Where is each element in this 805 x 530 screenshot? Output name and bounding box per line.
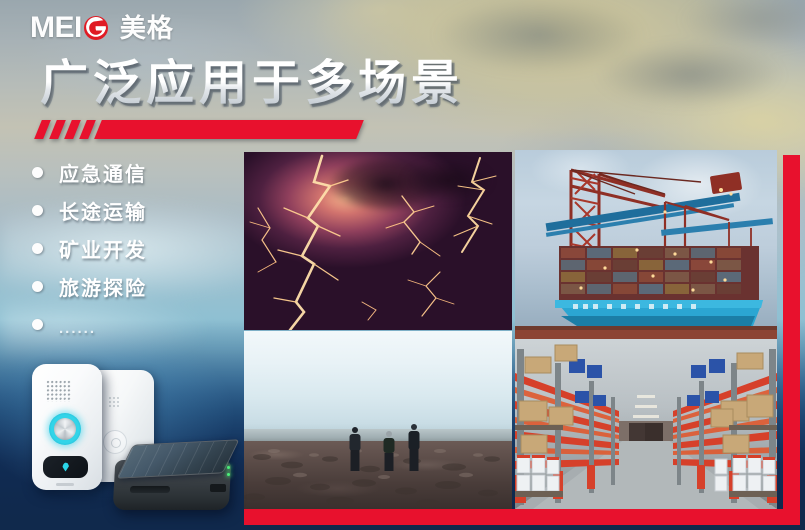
bullet-dot-icon	[32, 167, 43, 178]
logo-text-mei: MEI	[30, 13, 82, 43]
red-accent-bar	[38, 120, 353, 139]
device-speaker-grid-icon	[46, 380, 72, 402]
list-item: 旅游探险	[32, 274, 147, 299]
photo-warehouse-logistics	[515, 339, 777, 509]
port-cranes-icon	[515, 150, 777, 339]
scenario-label-mining: 矿业开发	[59, 234, 147, 263]
solar-device-slot	[130, 486, 170, 493]
list-item: 矿业开发	[32, 236, 147, 261]
bullet-dot-icon	[32, 319, 43, 330]
location-pin-icon	[62, 463, 69, 472]
bullet-dot-icon	[32, 281, 43, 292]
logo-wordmark-cn: 美格	[120, 15, 174, 41]
page-title: 广泛应用于多场景	[40, 58, 464, 111]
scenario-label-adventure: 旅游探险	[59, 272, 147, 301]
bullet-dot-icon	[32, 205, 43, 216]
device-white-tracker-icon	[32, 364, 102, 490]
solar-panel-icon	[116, 439, 239, 478]
accent-bar-segment-4	[79, 120, 96, 139]
scenario-label-transport: 长途运输	[59, 196, 147, 225]
scenario-label-emergency: 应急通信	[59, 158, 147, 187]
solar-status-led-2-icon	[227, 473, 230, 476]
lightning-bolts-icon	[244, 152, 512, 330]
scenario-label-more: ......	[59, 320, 96, 337]
photo-container-port	[515, 150, 777, 339]
device-usb-port-icon	[56, 483, 74, 486]
device-sos-button-icon	[49, 413, 81, 445]
hiker-figure-green	[380, 431, 398, 471]
list-item: ......	[32, 312, 147, 337]
accent-bar-segment-3	[64, 120, 81, 139]
photo-lightning-storm	[244, 152, 512, 330]
poster-canvas: MEI 美格 广泛应用于多场景 广泛应用于多场景 应急通信 长途	[0, 0, 805, 530]
photo-hikers-adventure	[244, 331, 512, 509]
hiker-figure-blue	[346, 427, 364, 471]
brand-logo: MEI 美格	[30, 13, 174, 43]
solar-status-led-1-icon	[227, 466, 230, 469]
meig-circle-g-logo-icon	[83, 15, 109, 41]
hikers-rock-texture-icon	[244, 331, 512, 509]
solar-device-usb-port-icon	[210, 484, 226, 492]
scenario-list: 应急通信 长途运输 矿业开发 旅游探险 ......	[32, 160, 147, 337]
list-item: 长途运输	[32, 198, 147, 223]
device-display-screen	[43, 456, 88, 478]
device-back-speaker-grid-icon	[108, 396, 121, 409]
red-vertical-frame-bar	[783, 155, 800, 525]
accent-bar-segment-2	[49, 120, 66, 139]
accent-bar-main	[94, 120, 364, 139]
red-horizontal-frame-bar	[244, 509, 800, 525]
logo-wordmark-latin: MEI	[30, 13, 109, 43]
device-solar-tracker-icon	[112, 442, 234, 514]
bullet-dot-icon	[32, 243, 43, 254]
list-item: 应急通信	[32, 160, 147, 185]
product-device-group	[8, 358, 240, 523]
warehouse-racking-icon	[515, 339, 777, 509]
hiker-figure-red	[404, 424, 424, 471]
